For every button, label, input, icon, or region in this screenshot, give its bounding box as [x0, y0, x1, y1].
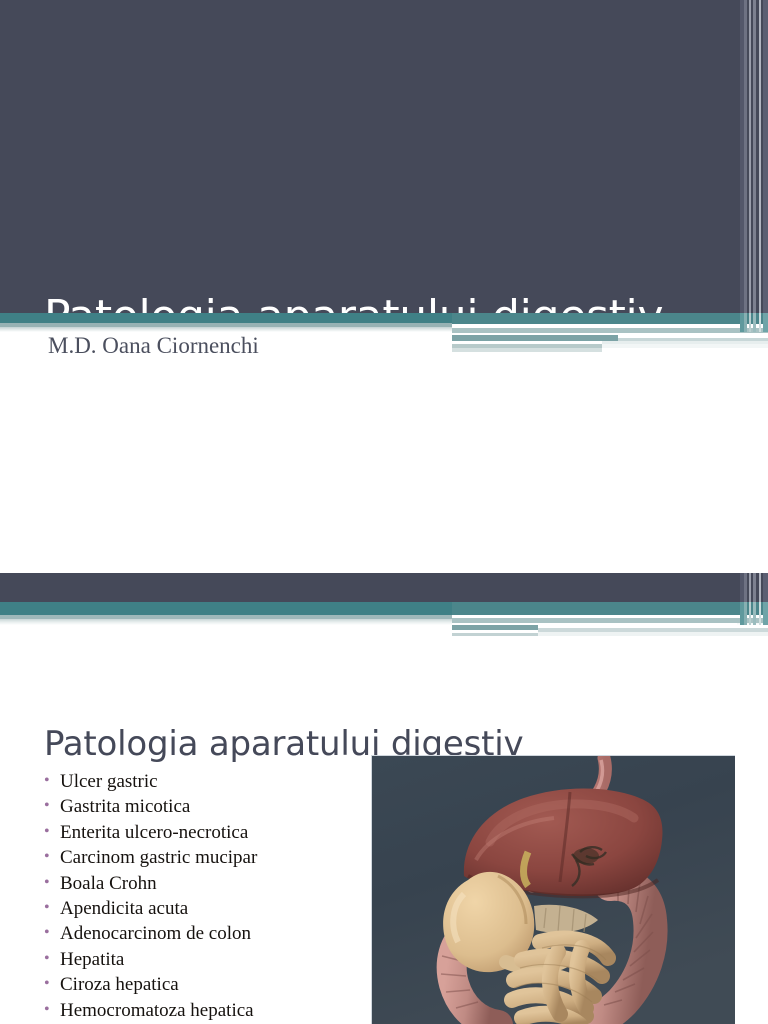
digestive-system-anatomy-image: 3D render of human digestive organs: liv…	[371, 755, 735, 1024]
list-item: Ulcer gastric	[40, 769, 370, 794]
slide1-decorative-stripes	[452, 313, 768, 363]
slide-contents: Patologia aparatului digestiv Ulcer gast…	[0, 573, 768, 1024]
list-item: Enterita ulcero-necrotica	[40, 820, 370, 845]
list-item: Carcinom gastric mucipar	[40, 845, 370, 870]
slide2-bullet-list: Ulcer gastric Gastrita micotica Enterita…	[40, 769, 370, 1023]
slide1-dark-header-band	[0, 0, 768, 313]
slide1-right-edge-vertical-stripes	[740, 0, 768, 332]
slide2-decorative-stripes	[452, 602, 768, 640]
list-item: Hepatita	[40, 947, 370, 972]
slide2-dark-header-band	[0, 573, 768, 602]
slide1-subtitle-author: M.D. Oana Ciornenchi	[48, 331, 259, 361]
anatomy-illustration	[372, 756, 735, 1024]
list-item: Ciroza hepatica	[40, 972, 370, 997]
list-item: Hemocromatoza hepatica	[40, 998, 370, 1023]
list-item: Boala Crohn	[40, 871, 370, 896]
presentation-page: Patologia aparatului digestiv	[0, 0, 768, 1024]
slide-title: Patologia aparatului digestiv	[0, 0, 768, 570]
slide2-right-edge-vertical-stripes	[740, 573, 768, 625]
list-item: Gastrita micotica	[40, 794, 370, 819]
list-item: Adenocarcinom de colon	[40, 921, 370, 946]
list-item: Apendicita acuta	[40, 896, 370, 921]
